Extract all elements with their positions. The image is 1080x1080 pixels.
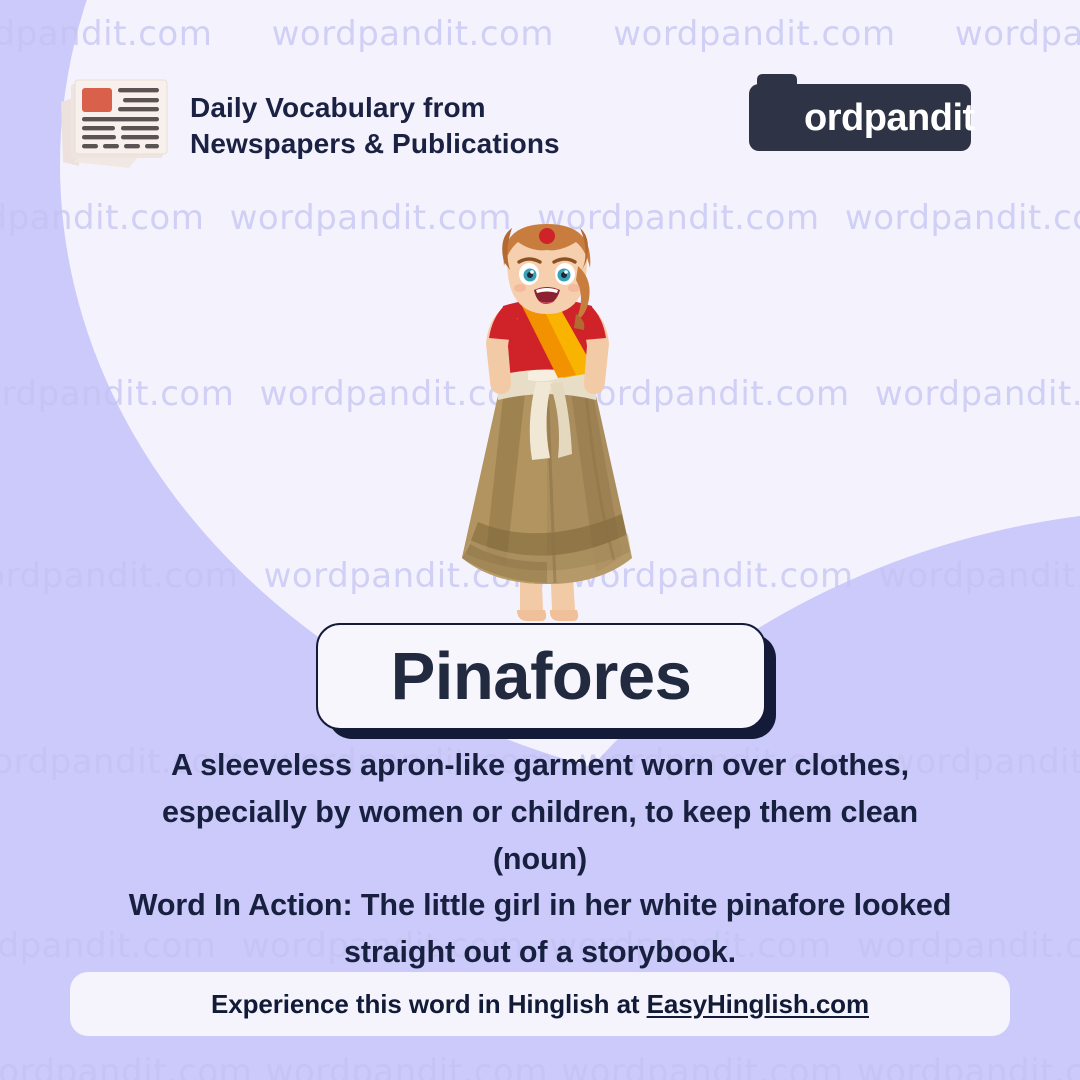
example-line-1: Word In Action: The little girl in her w…	[24, 882, 1056, 929]
vocabulary-card: wordpandit.com wordpandit.com wordpandit…	[0, 0, 1080, 1080]
header-title-line-1: Daily Vocabulary from	[190, 90, 710, 126]
bookmark-icon	[753, 74, 801, 148]
header-title: Daily Vocabulary from Newspapers & Publi…	[190, 90, 710, 161]
definition-part-of-speech: (noun)	[40, 836, 1040, 883]
wordpandit-logo[interactable]: ordpandit	[749, 84, 971, 151]
logo-text: ordpandit	[804, 96, 975, 140]
footer-text: Experience this word in Hinglish at Easy…	[211, 989, 869, 1020]
word-in-action-text: Word In Action: The little girl in her w…	[24, 882, 1056, 976]
word-box: Pinafores	[316, 623, 766, 730]
girl-in-traditional-dress-illustration	[400, 222, 690, 632]
definition-text: A sleeveless apron-like garment worn ove…	[40, 742, 1040, 883]
page-title: Pinafores	[391, 643, 692, 710]
newspaper-icon	[57, 74, 175, 170]
footer-bar: Experience this word in Hinglish at Easy…	[70, 972, 1010, 1036]
definition-line-1: A sleeveless apron-like garment worn ove…	[40, 742, 1040, 789]
footer-prefix: Experience this word in Hinglish at	[211, 989, 647, 1019]
easyhinglish-link[interactable]: EasyHinglish.com	[647, 989, 869, 1019]
word-title-box: Pinafores	[316, 623, 766, 731]
example-line-2: straight out of a storybook.	[24, 929, 1056, 976]
definition-line-2: especially by women or children, to keep…	[40, 789, 1040, 836]
header-title-line-2: Newspapers & Publications	[190, 126, 710, 162]
